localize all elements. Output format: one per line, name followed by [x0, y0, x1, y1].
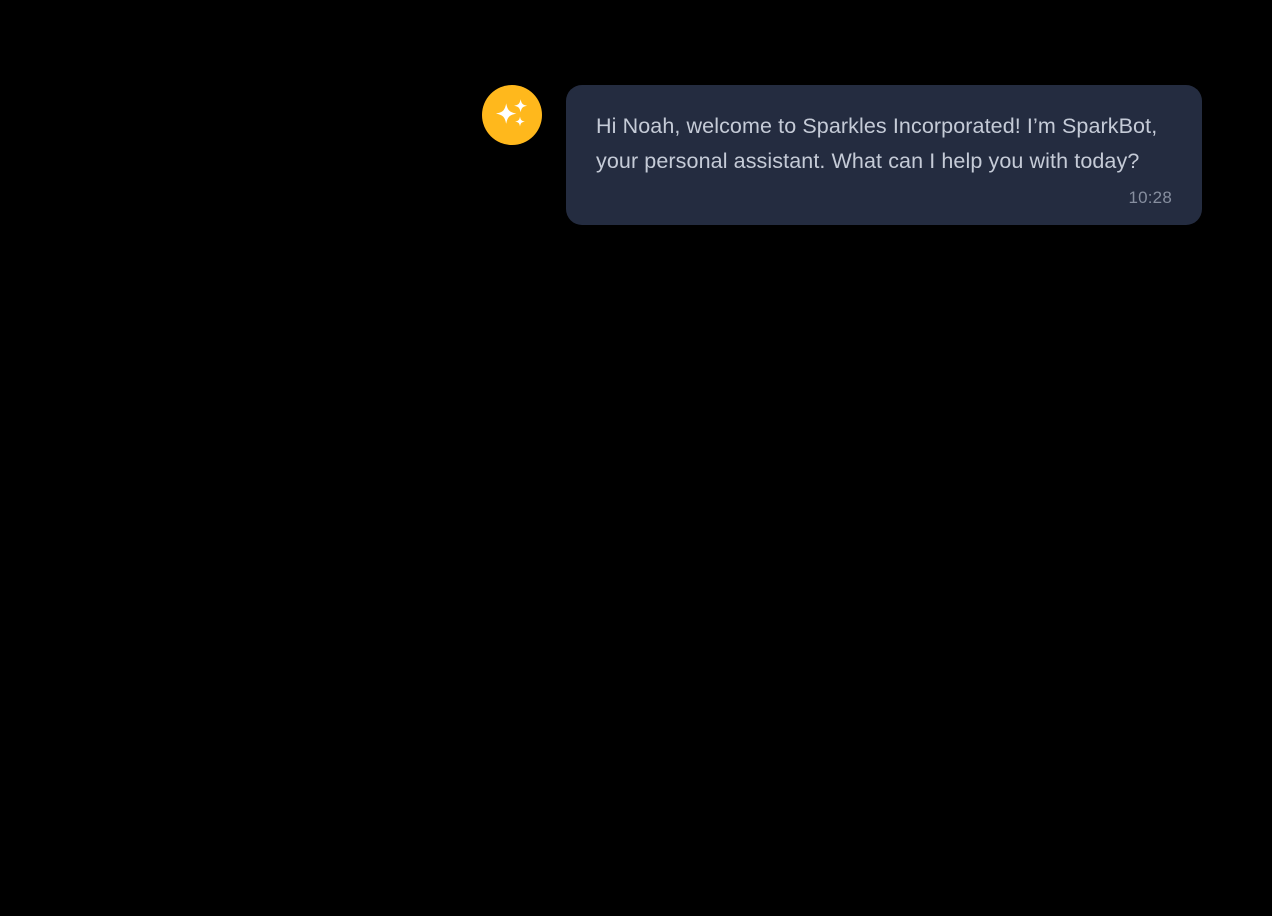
chat-root: Hi Noah, welcome to Sparkles Incorporate… [0, 0, 1272, 916]
message-timestamp: 10:28 [1128, 187, 1172, 209]
sparkles-icon [492, 95, 532, 135]
message-text: Hi Noah, welcome to Sparkles Incorporate… [596, 109, 1172, 179]
message-bubble: Hi Noah, welcome to Sparkles Incorporate… [566, 85, 1202, 225]
chat-message-bot: Hi Noah, welcome to Sparkles Incorporate… [482, 85, 1202, 225]
avatar [482, 85, 542, 145]
